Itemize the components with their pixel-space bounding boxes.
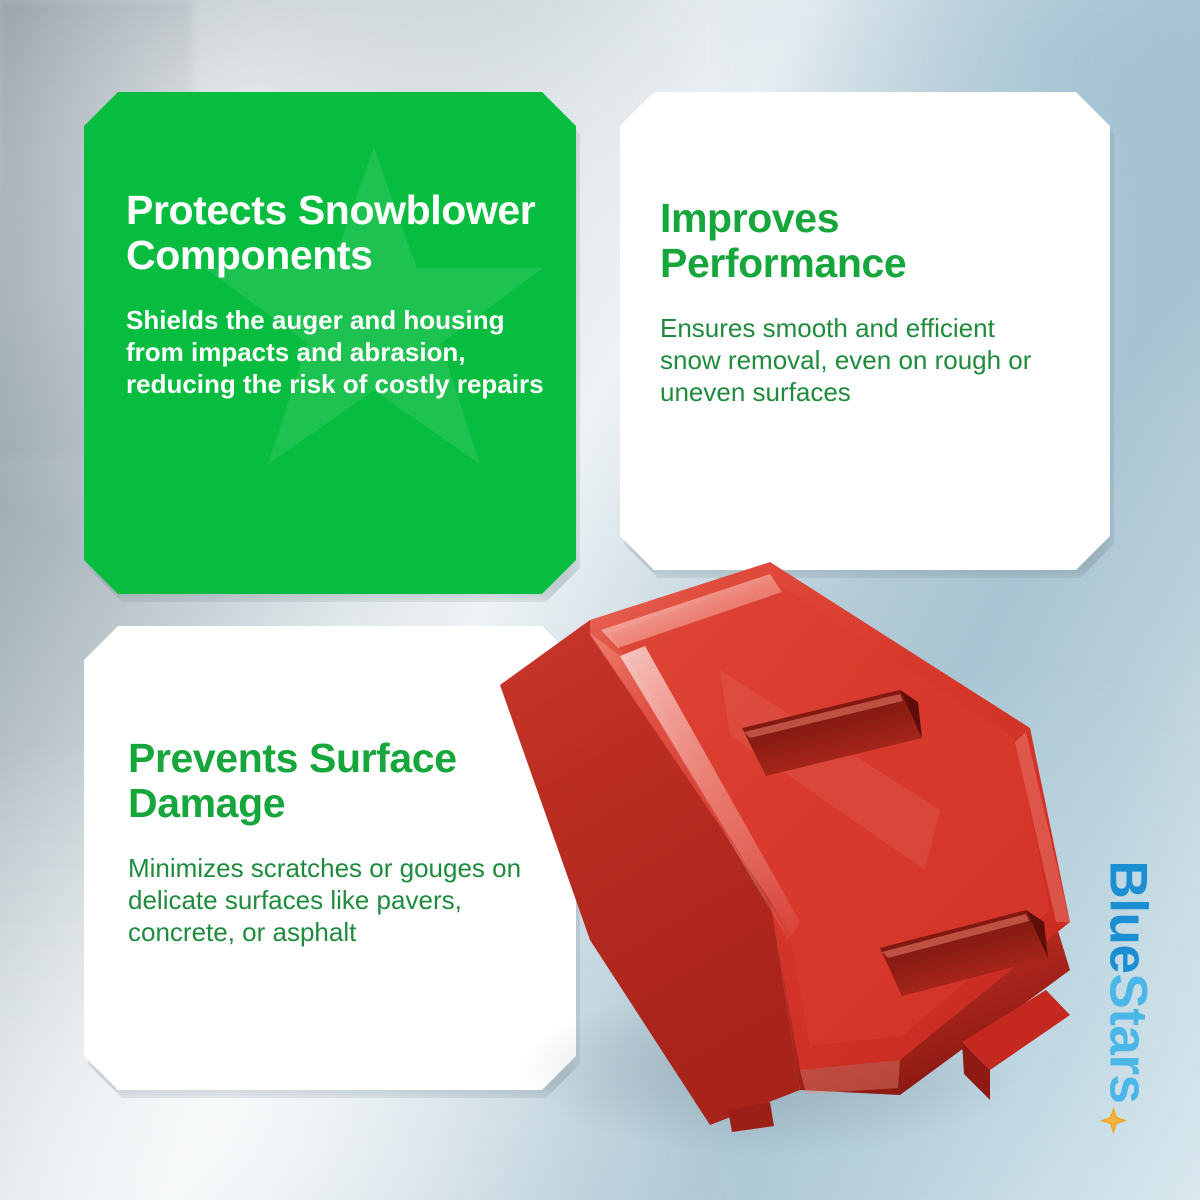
card-description-prevents: Minimizes scratches or gouges on delicat… [128, 852, 528, 948]
feature-card-improves: Improves Performance Ensures smooth and … [620, 92, 1110, 570]
card-title-improves: Improves Performance [660, 196, 1080, 286]
brand-name-blue: Blue [1098, 861, 1159, 974]
card-body-improves: Improves Performance Ensures smooth and … [620, 92, 1110, 408]
feature-card-prevents: Prevents Surface Damage Minimizes scratc… [84, 626, 576, 1090]
card-title-protects: Protects Snowblower Components [126, 188, 546, 278]
card-description-protects: Shields the auger and housing from impac… [126, 304, 556, 400]
feature-card-protects: Protects Snowblower Components Shields t… [84, 92, 576, 594]
four-point-star-icon [1094, 1105, 1129, 1135]
brand-name-stars: Stars [1098, 973, 1159, 1103]
card-title-prevents: Prevents Surface Damage [128, 736, 548, 826]
card-body-protects: Protects Snowblower Components Shields t… [84, 92, 576, 400]
brand-logo: Blue Stars [1068, 818, 1188, 1178]
infographic-canvas: Protects Snowblower Components Shields t… [0, 0, 1200, 1200]
card-body-prevents: Prevents Surface Damage Minimizes scratc… [84, 626, 576, 948]
card-description-improves: Ensures smooth and efficient snow remova… [660, 312, 1060, 408]
